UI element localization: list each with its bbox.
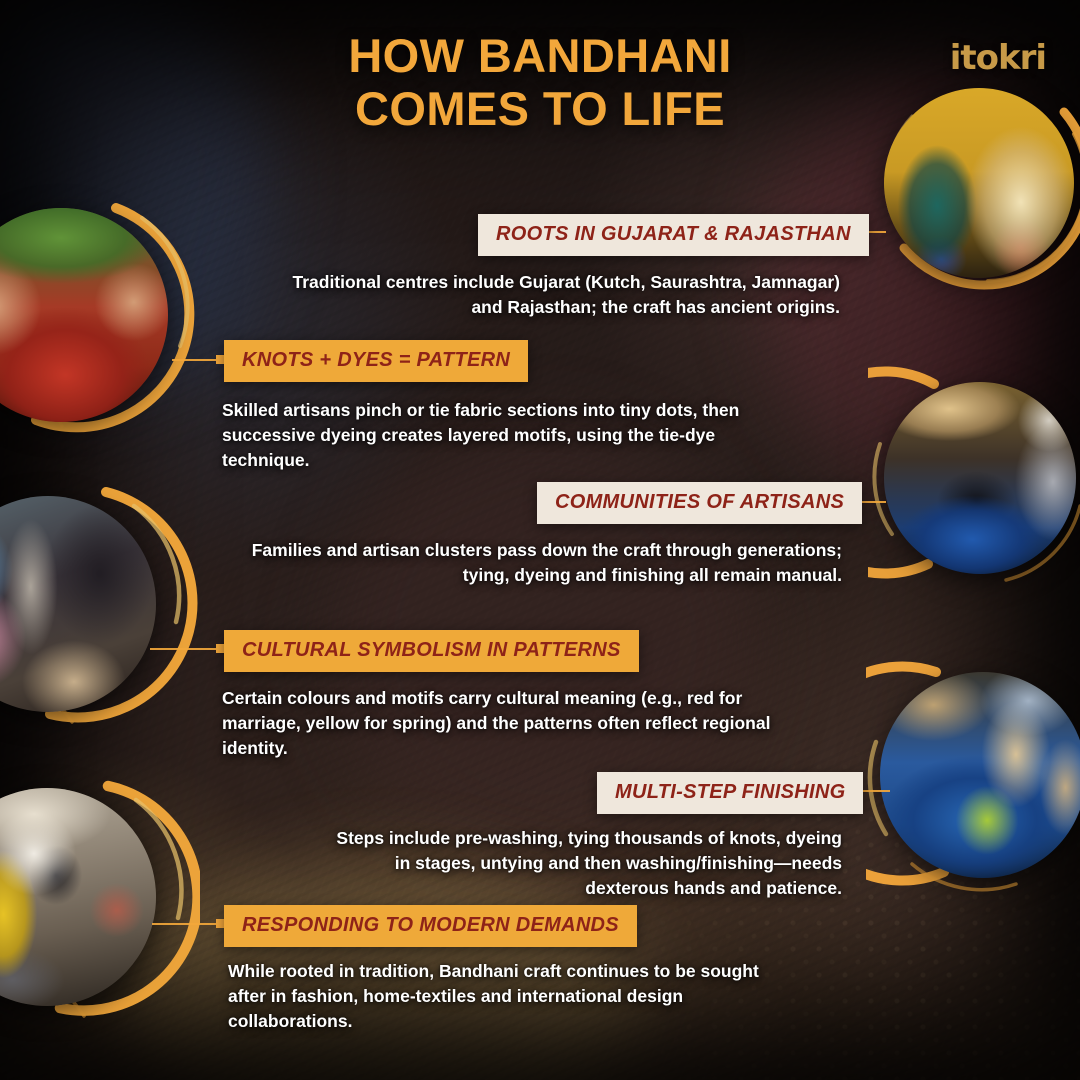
section-body-finishing: Steps include pre-washing, tying thousan… — [322, 826, 842, 901]
logo-text: itokri — [950, 38, 1046, 78]
page-title: HOW BANDHANI COMES TO LIFE — [0, 30, 1080, 135]
photo-indigo-vat-dipping — [880, 672, 1080, 878]
section-body-communities: Families and artisan clusters pass down … — [250, 538, 842, 588]
connector-line-4 — [150, 648, 220, 650]
section-label-roots: ROOTS IN GUJARAT & RAJASTHAN — [478, 214, 869, 256]
photo-hands-tying-red-fabric — [0, 208, 168, 422]
connector-line-2 — [172, 359, 220, 361]
section-body-knots-dyes: Skilled artisans pinch or tie fabric sec… — [222, 398, 742, 473]
photo-artisan-lifting-yellow-yarn — [0, 788, 156, 1006]
title-line-1: HOW BANDHANI — [0, 30, 1080, 83]
section-label-knots-dyes: KNOTS + DYES = PATTERN — [224, 340, 528, 382]
section-body-modern-demands: While rooted in tradition, Bandhani craf… — [228, 959, 788, 1034]
section-body-roots: Traditional centres include Gujarat (Kut… — [260, 270, 840, 320]
section-label-symbolism: CULTURAL SYMBOLISM IN PATTERNS — [224, 630, 639, 672]
section-body-symbolism: Certain colours and motifs carry cultura… — [222, 686, 782, 761]
section-label-communities: COMMUNITIES OF ARTISANS — [537, 482, 862, 524]
title-line-2: COMES TO LIFE — [0, 83, 1080, 136]
section-label-finishing: MULTI-STEP FINISHING — [597, 772, 863, 814]
connector-line-6 — [152, 923, 220, 925]
itokri-logo[interactable]: itokri — [950, 38, 1046, 78]
photo-dyer-blue-tub — [884, 382, 1076, 574]
section-label-modern-demands: RESPONDING TO MODERN DEMANDS — [224, 905, 637, 947]
infographic-canvas: HOW BANDHANI COMES TO LIFE itokri ROOTS … — [0, 0, 1080, 1080]
photo-women-outdoor-tying — [0, 496, 156, 712]
